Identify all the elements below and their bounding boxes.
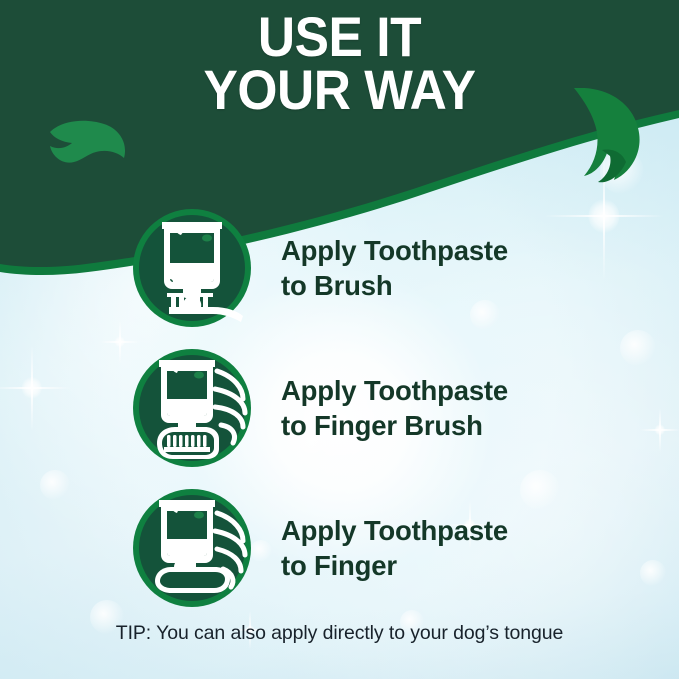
step-icon-3 <box>131 487 253 609</box>
list-item: Apply Toothpaste to Finger Brush <box>0 338 679 478</box>
step-label-3: Apply Toothpaste to Finger <box>281 513 508 583</box>
infographic-panel: USE IT YOUR WAY <box>0 0 679 679</box>
step-label-1: Apply Toothpaste to Brush <box>281 233 508 303</box>
step-icon-2 <box>131 347 253 469</box>
toothpaste-tube-on-finger-brush-icon <box>131 347 253 469</box>
list-item: Apply Toothpaste to Finger <box>0 478 679 618</box>
page-title: USE IT YOUR WAY <box>27 10 652 116</box>
step-label-1-line-2: to Brush <box>281 268 508 303</box>
step-label-3-line-2: to Finger <box>281 548 508 583</box>
page-title-line-2: YOUR WAY <box>27 63 652 116</box>
step-label-3-line-1: Apply Toothpaste <box>281 515 508 546</box>
list-item: Apply Toothpaste to Brush <box>0 198 679 338</box>
step-label-2: Apply Toothpaste to Finger Brush <box>281 373 508 443</box>
step-label-2-line-1: Apply Toothpaste <box>281 375 508 406</box>
steps-list: Apply Toothpaste to Brush <box>0 198 679 618</box>
step-icon-1 <box>131 207 253 329</box>
toothpaste-tube-on-finger-icon <box>131 487 253 609</box>
tip-text: TIP: You can also apply directly to your… <box>0 622 679 645</box>
step-label-1-line-1: Apply Toothpaste <box>281 235 508 266</box>
step-label-2-line-2: to Finger Brush <box>281 408 508 443</box>
page-title-line-1: USE IT <box>27 10 652 63</box>
toothpaste-tube-on-toothbrush-icon <box>131 207 253 329</box>
